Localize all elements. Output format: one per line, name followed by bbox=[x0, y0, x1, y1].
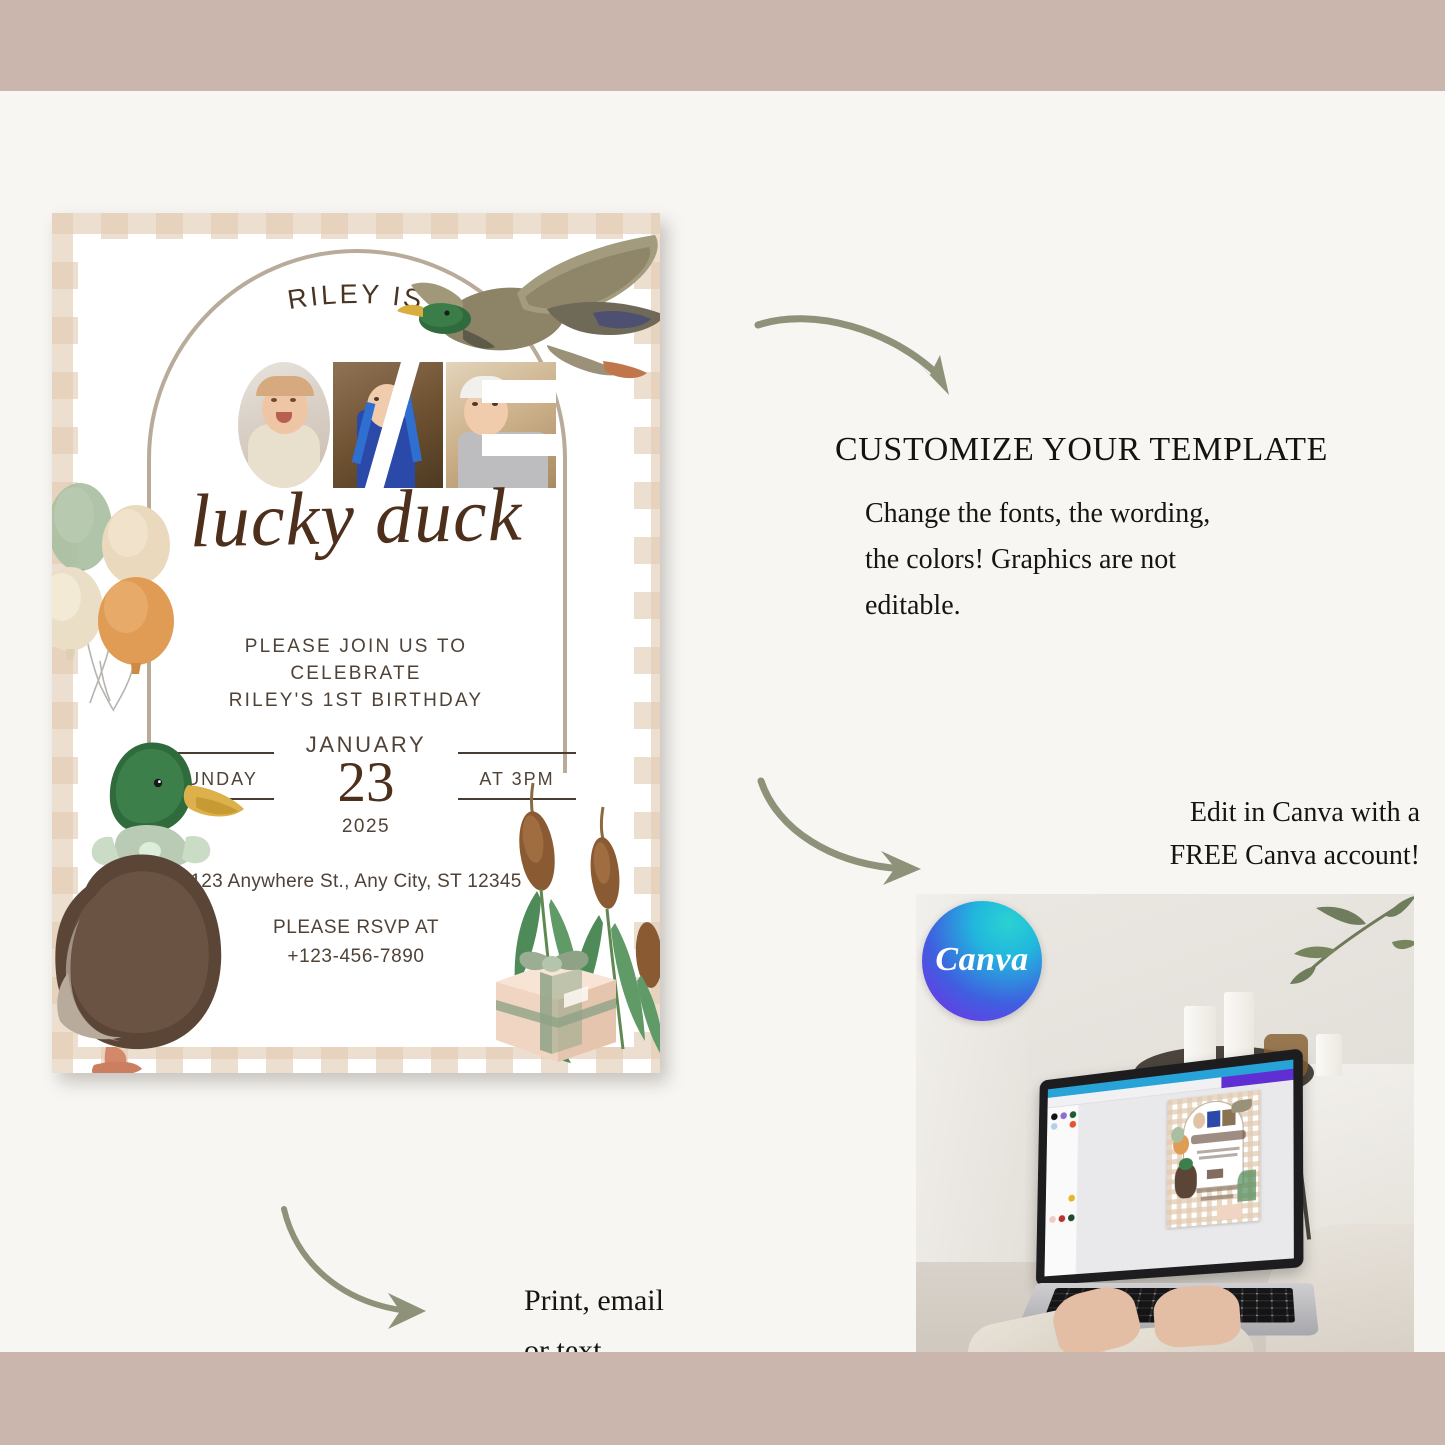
canva-copy-line-2: FREE Canva account! bbox=[1060, 834, 1420, 877]
photo-letter-o bbox=[238, 362, 330, 488]
time-label: AT 3PM bbox=[458, 769, 576, 790]
photo-laptop bbox=[1026, 1064, 1316, 1364]
canva-logo-label: Canva bbox=[935, 941, 1028, 979]
rsvp-phone: +123-456-7890 bbox=[52, 942, 660, 971]
photo-candle-1 bbox=[1184, 1006, 1216, 1064]
svg-text:RILEY IS: RILEY IS bbox=[285, 279, 426, 315]
photo-candle-3 bbox=[1316, 1034, 1342, 1076]
laptop-lid bbox=[1036, 1048, 1304, 1286]
rule-left-bottom bbox=[156, 798, 274, 800]
intro-line-1: PLEASE JOIN US TO bbox=[52, 633, 660, 660]
arrow-to-print-icon bbox=[278, 1199, 518, 1344]
intro-text: PLEASE JOIN US TO CELEBRATE RILEY'S 1ST … bbox=[52, 633, 660, 714]
subcopy-line-2: the colors! Graphics are not bbox=[865, 537, 1385, 583]
rule-left-top bbox=[156, 752, 274, 754]
invitation-card: RILEY IS bbox=[52, 213, 660, 1073]
laptop-screen bbox=[1044, 1060, 1293, 1277]
script-line: lucky duck bbox=[52, 469, 660, 569]
photo-letter-e bbox=[446, 362, 556, 488]
intro-line-3: RILEY'S 1ST BIRTHDAY bbox=[52, 687, 660, 714]
photo-hand-right bbox=[1152, 1283, 1242, 1349]
rule-right-top bbox=[458, 752, 576, 754]
customize-headline: CUSTOMIZE YOUR TEMPLATE bbox=[835, 431, 1435, 469]
canva-mini-invitation[interactable] bbox=[1167, 1090, 1261, 1228]
rsvp-label: PLEASE RSVP AT bbox=[52, 913, 660, 942]
print-copy-line-1: Print, email bbox=[524, 1276, 784, 1326]
top-banner bbox=[0, 0, 1445, 91]
canva-copy-line-1: Edit in Canva with a bbox=[1060, 791, 1420, 834]
arrow-to-canva-icon bbox=[755, 771, 995, 891]
address-line: 123 Anywhere St., Any City, ST 12345 bbox=[52, 871, 660, 893]
bottom-banner bbox=[0, 1352, 1445, 1445]
canva-logo-badge: Canva bbox=[922, 901, 1042, 1021]
photo-candle-2 bbox=[1224, 992, 1254, 1062]
content-stage: RILEY IS bbox=[0, 91, 1445, 1352]
subcopy-line-1: Change the fonts, the wording, bbox=[865, 491, 1385, 537]
arched-name-text: RILEY IS bbox=[52, 271, 660, 341]
rsvp-block: PLEASE RSVP AT +123-456-7890 bbox=[52, 913, 660, 971]
customize-subcopy: Change the fonts, the wording, the color… bbox=[865, 491, 1385, 629]
canva-canvas-area[interactable] bbox=[1077, 1080, 1294, 1274]
name-line: RILEY IS bbox=[285, 279, 426, 315]
subcopy-line-3: editable. bbox=[865, 583, 1385, 629]
one-photo-letters bbox=[238, 353, 568, 488]
rule-right-bottom bbox=[458, 798, 576, 800]
year-label: 2025 bbox=[276, 816, 456, 838]
canva-copy: Edit in Canva with a FREE Canva account! bbox=[1060, 791, 1420, 877]
arrow-to-customize-icon bbox=[752, 303, 1007, 413]
intro-line-2: CELEBRATE bbox=[52, 660, 660, 687]
day-number: 23 bbox=[276, 752, 456, 814]
weekday-label: SUNDAY bbox=[156, 769, 274, 790]
photo-letter-n bbox=[333, 362, 443, 488]
date-block: SUNDAY JANUARY 23 2025 AT 3PM bbox=[156, 728, 576, 838]
canva-left-panel[interactable] bbox=[1044, 1105, 1079, 1277]
